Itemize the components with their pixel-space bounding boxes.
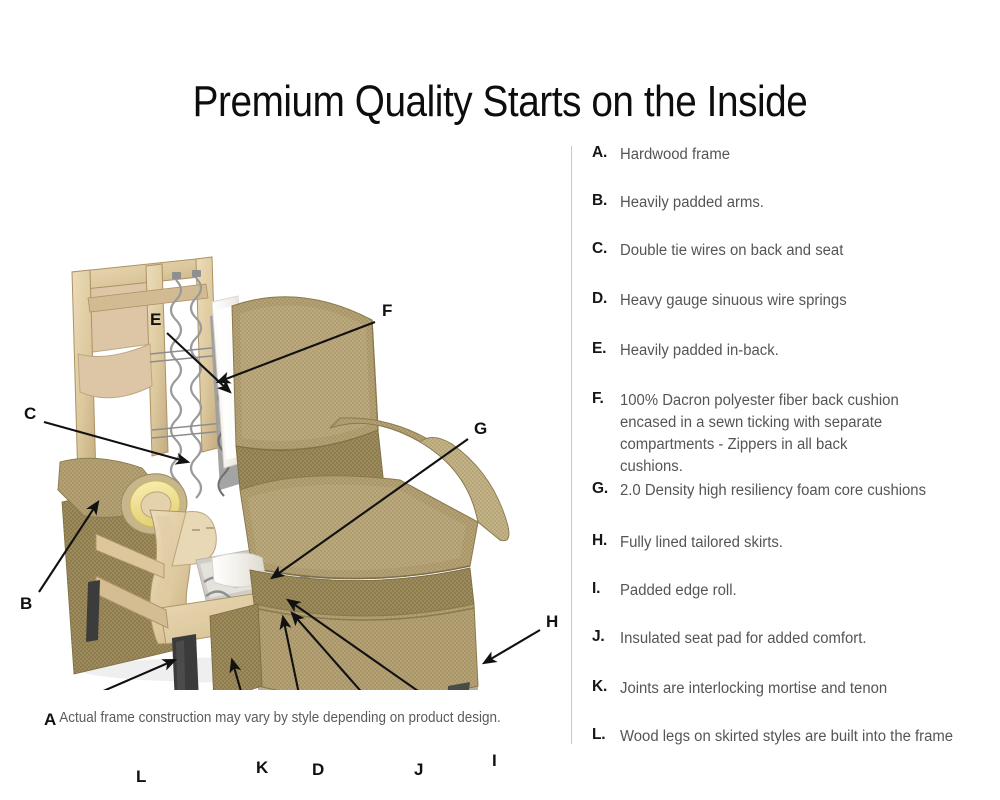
page-title: Premium Quality Starts on the Inside (60, 75, 940, 129)
legend-letter: F. (592, 390, 604, 408)
legend-text: Double tie wires on back and seat (620, 240, 977, 262)
legend-text: 2.0 Density high resiliency foam core cu… (620, 480, 977, 502)
legend-item-b: B.Heavily padded arms. (592, 192, 992, 214)
legend-letter: C. (592, 240, 607, 258)
legend-item-g: G.2.0 Density high resiliency foam core … (592, 480, 992, 502)
poster-root: Premium Quality Starts on the Inside (0, 0, 1000, 800)
legend-letter: J. (592, 628, 605, 646)
callout-label-i: I (492, 752, 497, 769)
legend-letter: I. (592, 580, 600, 598)
legend-text: Wood legs on skirted styles are built in… (620, 726, 977, 748)
legend-item-a: A.Hardwood frame (592, 144, 992, 166)
callout-label-k: K (256, 759, 268, 776)
legend-letter: A. (592, 144, 607, 162)
legend-text: Heavy gauge sinuous wire springs (620, 290, 977, 312)
legend-letter: D. (592, 290, 607, 308)
illustration-caption: Actual frame construction may vary by st… (20, 710, 541, 726)
legend-item-k: K.Joints are interlocking mortise and te… (592, 678, 992, 700)
callout-arrow-h (484, 630, 540, 663)
legend-letter: E. (592, 340, 606, 358)
tailored-skirt (254, 604, 478, 690)
legend-item-e: E.Heavily padded in-back. (592, 340, 992, 362)
chair-cutaway-illustration: EFCGBHALKDJI (0, 130, 560, 690)
legend-letter: H. (592, 532, 607, 550)
legend-text: Heavily padded in-back. (620, 340, 977, 362)
callout-label-l: L (136, 768, 146, 785)
legend-letter: B. (592, 192, 607, 210)
legend-letter: G. (592, 480, 608, 498)
chair-illustration-svg (0, 130, 560, 690)
legend-text: Padded edge roll. (620, 580, 977, 602)
back-sinuous-springs (171, 278, 201, 500)
rear-leg (86, 580, 100, 642)
legend-item-j: J.Insulated seat pad for added comfort. (592, 628, 992, 650)
legend-letter: L. (592, 726, 605, 744)
callout-label-d: D (312, 761, 324, 778)
legend-item-i: I.Padded edge roll. (592, 580, 992, 602)
legend-item-l: L.Wood legs on skirted styles are built … (592, 726, 992, 748)
vertical-divider (571, 146, 572, 744)
legend-item-h: H.Fully lined tailored skirts. (592, 532, 992, 554)
upholstered-chair-body (210, 297, 509, 690)
callout-label-j: J (414, 761, 423, 778)
legend-text: 100% Dacron polyester fiber back cushion… (620, 390, 910, 478)
legend-item-f: F.100% Dacron polyester fiber back cushi… (592, 390, 922, 478)
legend-letter: K. (592, 678, 607, 696)
legend-item-c: C.Double tie wires on back and seat (592, 240, 992, 262)
legend-item-d: D.Heavy gauge sinuous wire springs (592, 290, 992, 312)
legend-text: Hardwood frame (620, 144, 977, 166)
legend-text: Heavily padded arms. (620, 192, 977, 214)
legend-text: Insulated seat pad for added comfort. (620, 628, 977, 650)
legend-text: Joints are interlocking mortise and teno… (620, 678, 977, 700)
legend-text: Fully lined tailored skirts. (620, 532, 977, 554)
